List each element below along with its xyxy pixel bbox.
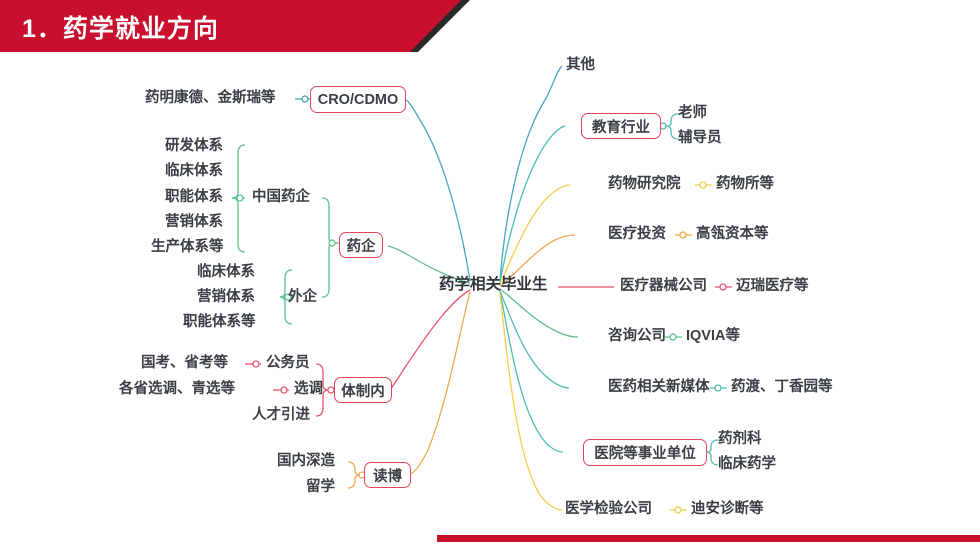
leaf-rd-system[interactable]: 研发体系	[165, 139, 223, 154]
leaf-clinical-system-cn[interactable]: 临床体系	[165, 164, 223, 179]
leaf-overseas-study[interactable]: 留学	[306, 480, 335, 495]
node-public-sector[interactable]: 体制内	[334, 377, 392, 403]
connector-lines	[0, 0, 980, 549]
node-drug-research-institute[interactable]: 药物研究院	[608, 177, 681, 192]
center-node[interactable]: 药学相关毕业生	[439, 277, 548, 293]
leaf-drug-institutes[interactable]: 药物所等	[716, 177, 774, 192]
node-china-pharma[interactable]: 中国药企	[252, 190, 310, 205]
node-pharma-company[interactable]: 药企	[339, 232, 383, 258]
leaf-iqvia[interactable]: IQVIA等	[686, 329, 740, 344]
node-foreign-pharma[interactable]: 外企	[288, 290, 317, 305]
leaf-hillhouse-capital[interactable]: 高瓴资本等	[696, 227, 769, 242]
node-talent-introduction[interactable]: 人才引进	[252, 408, 310, 423]
leaf-clinical-pharmacy[interactable]: 临床药学	[718, 457, 776, 472]
leaf-national-provincial-exam[interactable]: 国考、省考等	[141, 356, 228, 371]
leaf-provincial-selection[interactable]: 各省选调、青选等	[119, 382, 235, 397]
leaf-functional-system-cn[interactable]: 职能体系	[165, 190, 223, 205]
node-pharma-new-media[interactable]: 医药相关新媒体	[608, 380, 710, 395]
leaf-clinical-system-fg[interactable]: 临床体系	[197, 265, 255, 280]
node-education-industry[interactable]: 教育行业	[581, 113, 661, 139]
leaf-marketing-system-fg[interactable]: 营销体系	[197, 290, 255, 305]
node-medical-lab-company[interactable]: 医学检验公司	[565, 502, 652, 517]
leaf-teacher[interactable]: 老师	[678, 106, 707, 121]
node-xuandiao[interactable]: 选调	[294, 382, 323, 397]
leaf-functional-system-fg[interactable]: 职能体系等	[183, 315, 256, 330]
leaf-marketing-system-cn[interactable]: 营销体系	[165, 215, 223, 230]
leaf-dian-diagnostics[interactable]: 迪安诊断等	[691, 502, 764, 517]
leaf-domestic-study[interactable]: 国内深造	[277, 454, 335, 469]
node-civil-servant[interactable]: 公务员	[266, 356, 310, 371]
leaf-mindray[interactable]: 迈瑞医疗等	[736, 279, 809, 294]
node-hospital-institution[interactable]: 医院等事业单位	[583, 439, 707, 466]
node-phd[interactable]: 读博	[364, 462, 411, 488]
node-medical-device-company[interactable]: 医疗器械公司	[620, 279, 707, 294]
leaf-wuxi-genscript[interactable]: 药明康德、金斯瑞等	[145, 91, 276, 106]
leaf-production-system-cn[interactable]: 生产体系等	[151, 240, 224, 255]
leaf-pharmacy-dept[interactable]: 药剂科	[718, 432, 762, 447]
node-consulting-company[interactable]: 咨询公司	[608, 329, 666, 344]
slide-canvas: 1．药学就业方向	[0, 0, 980, 549]
leaf-yaodu-dxy[interactable]: 药渡、丁香园等	[731, 380, 833, 395]
node-medical-investment[interactable]: 医疗投资	[608, 227, 666, 242]
leaf-counselor[interactable]: 辅导员	[678, 131, 722, 146]
node-cro-cdmo[interactable]: CRO/CDMO	[310, 86, 406, 113]
node-other[interactable]: 其他	[566, 58, 595, 73]
